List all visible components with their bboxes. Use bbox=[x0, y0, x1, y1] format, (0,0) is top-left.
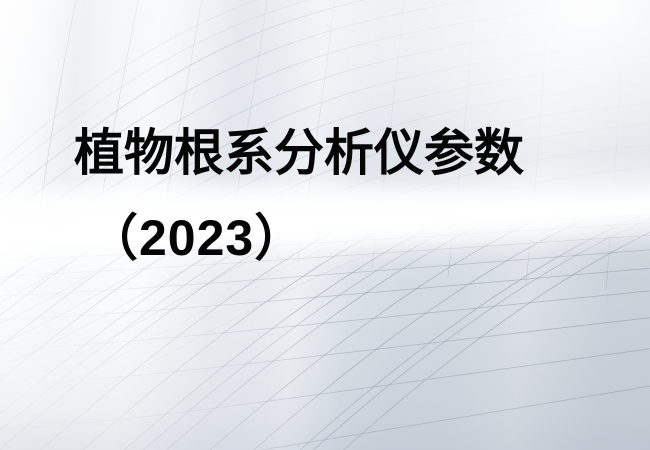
title-block: 植物根系分析仪参数 （2023） bbox=[0, 0, 650, 450]
slide-title-primary: 植物根系分析仪参数 bbox=[74, 128, 524, 178]
slide-title-year: （2023） bbox=[88, 213, 305, 263]
slide-canvas: 植物根系分析仪参数 （2023） bbox=[0, 0, 650, 450]
